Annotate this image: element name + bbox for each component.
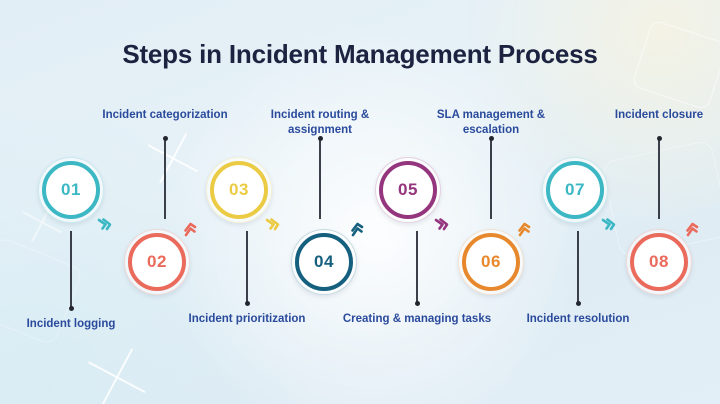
connector-endpoint-dot [576, 301, 581, 306]
step-number-02: 02 [128, 233, 186, 291]
chevron-accent-icon [434, 217, 452, 235]
step-connector-line [319, 138, 321, 219]
step-circle-06[interactable]: 06 [458, 229, 524, 295]
step-circle-02[interactable]: 02 [124, 229, 190, 295]
step-connector-line [577, 231, 579, 304]
chevron-accent-icon [517, 219, 535, 237]
step-connector-line [658, 138, 660, 219]
connector-endpoint-dot [245, 301, 250, 306]
step-number-01: 01 [42, 161, 100, 219]
connector-endpoint-dot [163, 136, 168, 141]
chevron-accent-icon [265, 217, 283, 235]
connector-endpoint-dot [69, 306, 74, 311]
page-title: Steps in Incident Management Process [0, 39, 720, 70]
chevron-accent-icon [183, 219, 201, 237]
step-label-06: SLA management & escalation [411, 108, 571, 137]
connector-endpoint-dot [657, 136, 662, 141]
step-connector-line [490, 138, 492, 219]
step-circle-04[interactable]: 04 [291, 229, 357, 295]
step-label-05: Creating & managing tasks [337, 312, 497, 327]
chevron-accent-icon [350, 219, 368, 237]
step-connector-line [416, 231, 418, 304]
step-circle-05[interactable]: 05 [375, 157, 441, 223]
step-circle-01[interactable]: 01 [38, 157, 104, 223]
chevron-accent-icon [97, 217, 115, 235]
step-label-01: Incident logging [0, 317, 151, 332]
step-number-03: 03 [210, 161, 268, 219]
step-label-08: Incident closure [579, 108, 720, 123]
step-label-07: Incident resolution [498, 312, 658, 327]
step-connector-line [70, 231, 72, 309]
infographic-canvas: Steps in Incident Management Process 01I… [0, 0, 720, 404]
step-connector-line [164, 138, 166, 219]
chevron-accent-icon [601, 217, 619, 235]
step-number-07: 07 [546, 161, 604, 219]
step-label-03: Incident prioritization [167, 312, 327, 327]
sparkle-decoration [145, 130, 201, 186]
step-number-05: 05 [379, 161, 437, 219]
step-circle-03[interactable]: 03 [206, 157, 272, 223]
connector-endpoint-dot [415, 301, 420, 306]
sparkle-decoration [85, 345, 149, 404]
chevron-accent-icon [685, 219, 703, 237]
step-connector-line [246, 231, 248, 304]
step-number-04: 04 [295, 233, 353, 291]
step-circle-08[interactable]: 08 [626, 229, 692, 295]
step-circle-07[interactable]: 07 [542, 157, 608, 223]
step-label-02: Incident categorization [85, 108, 245, 123]
step-number-08: 08 [630, 233, 688, 291]
step-number-06: 06 [462, 233, 520, 291]
step-label-04: Incident routing & assignment [240, 108, 400, 137]
